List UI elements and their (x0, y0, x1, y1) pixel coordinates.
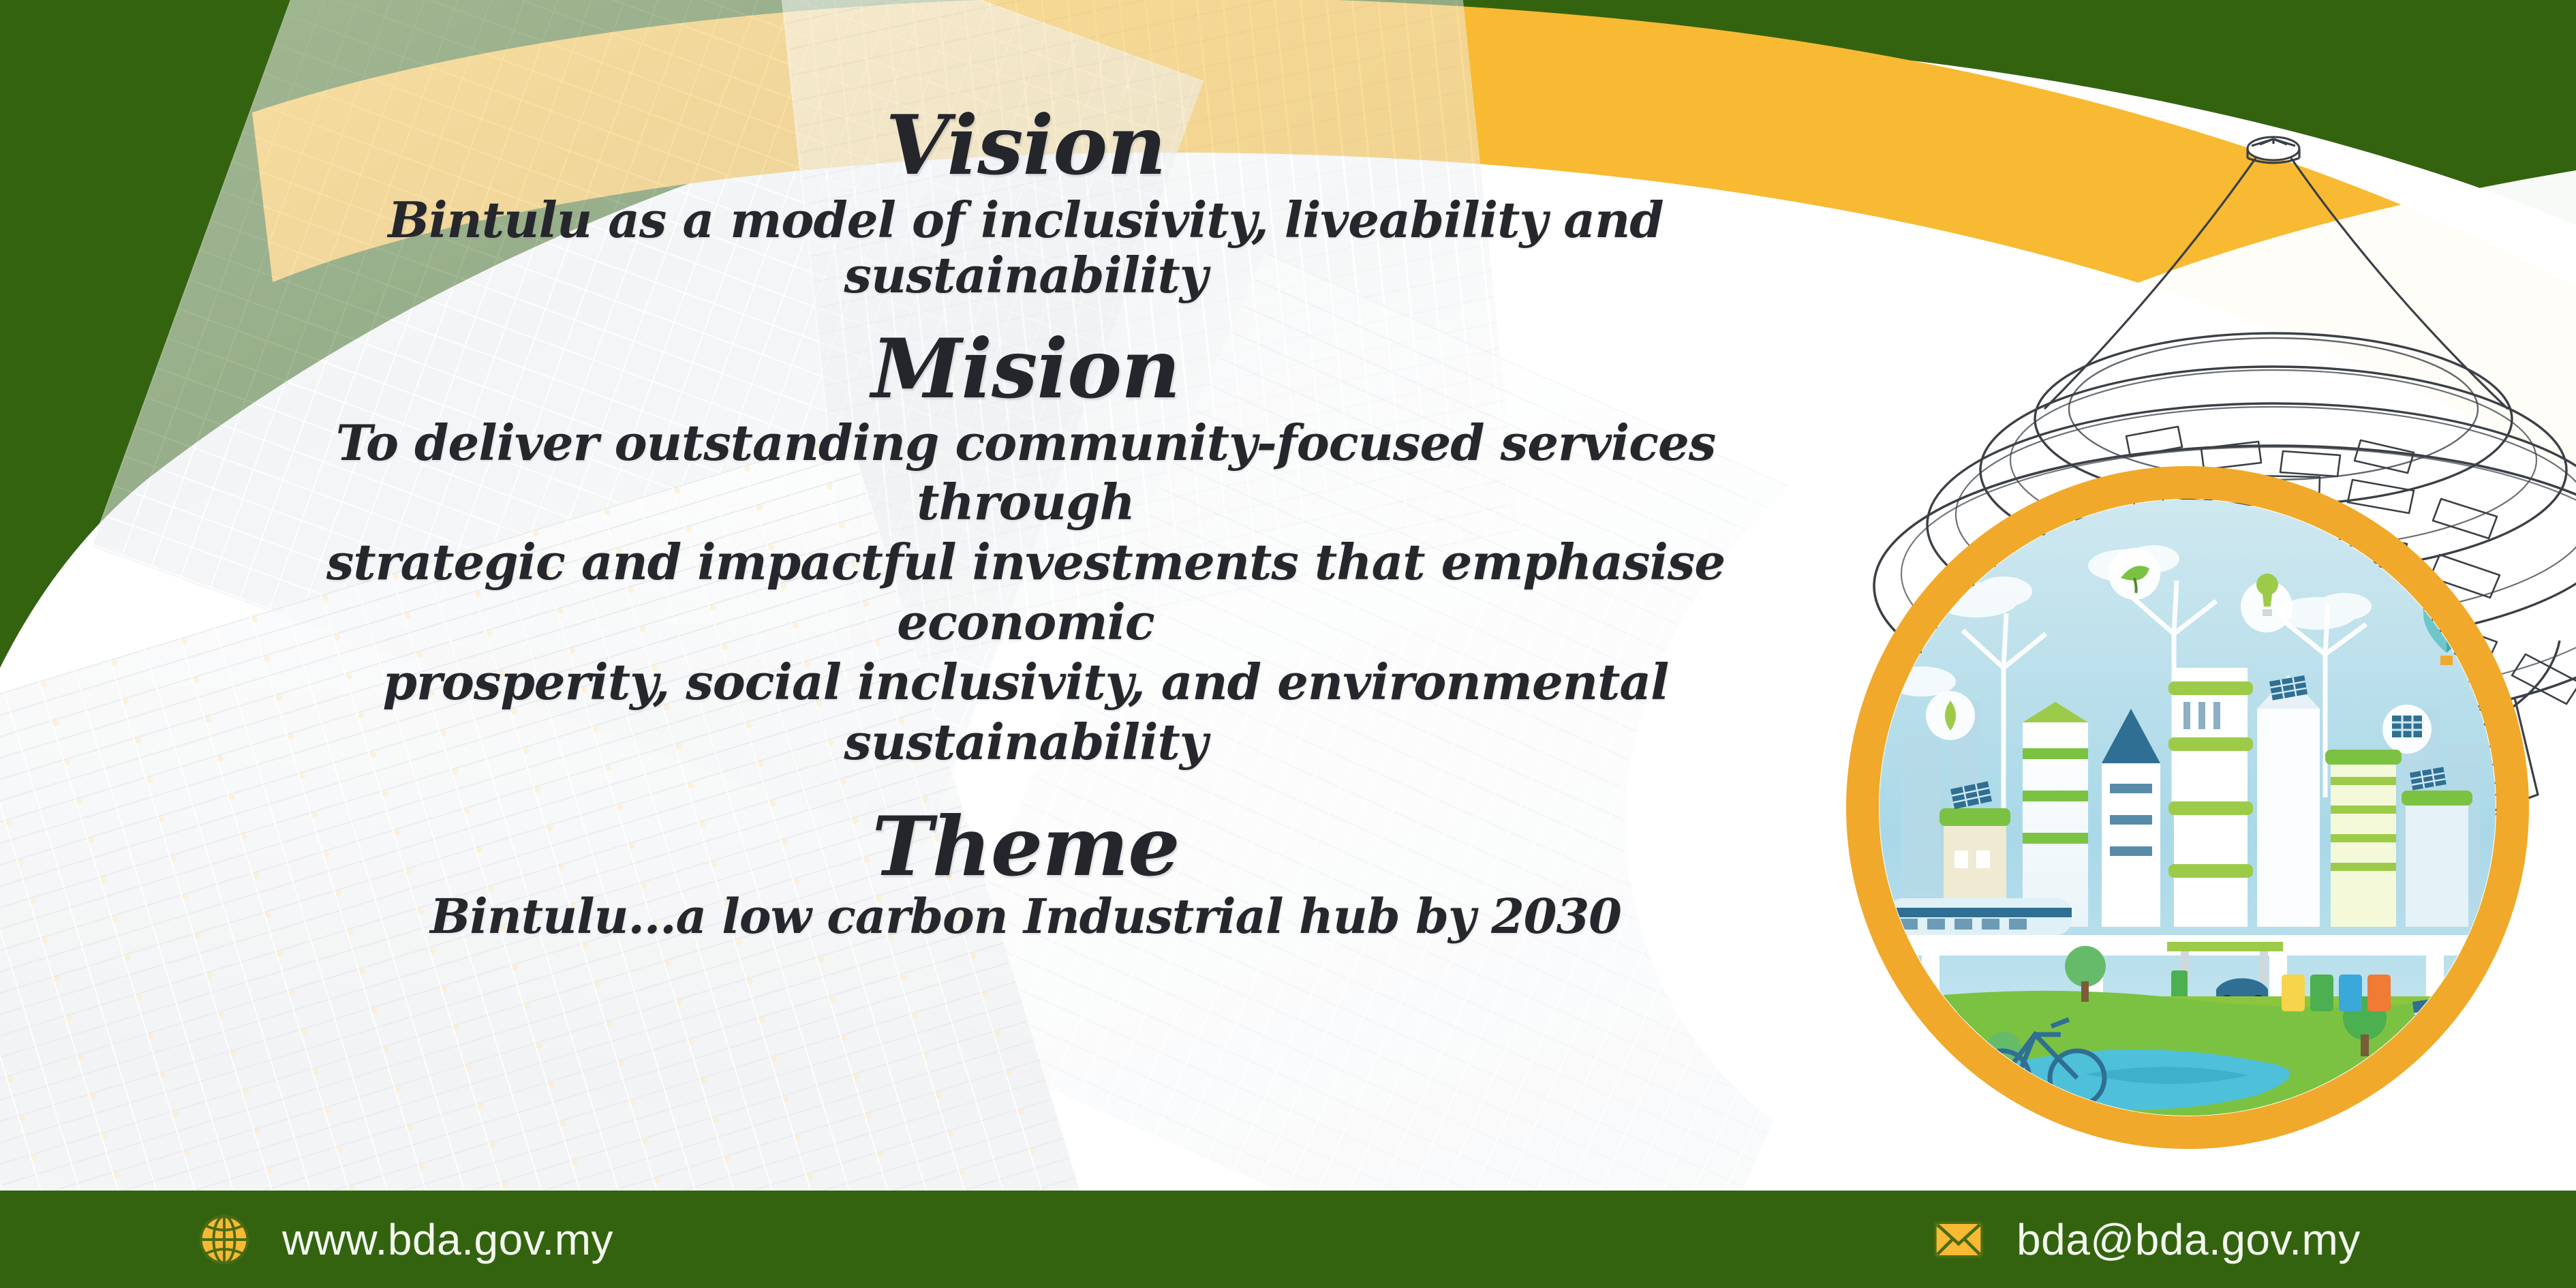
bda-vision-mission-banner: Vision Bintulu as a model of inclusivity… (0, 0, 2576, 1288)
email-label: bda@bda.gov.my (2017, 1214, 2361, 1265)
footer-email[interactable]: bda@bda.gov.my (1932, 1213, 2361, 1266)
footer-website[interactable]: www.bda.gov.my (198, 1213, 613, 1266)
footer-contact-bar: www.bda.gov.my bda@bda.gov.my (0, 1191, 2576, 1288)
envelope-icon (1932, 1213, 1985, 1266)
website-label: www.bda.gov.my (282, 1214, 613, 1265)
globe-icon (198, 1213, 251, 1266)
foreground-white-sweep (0, 0, 2576, 1288)
